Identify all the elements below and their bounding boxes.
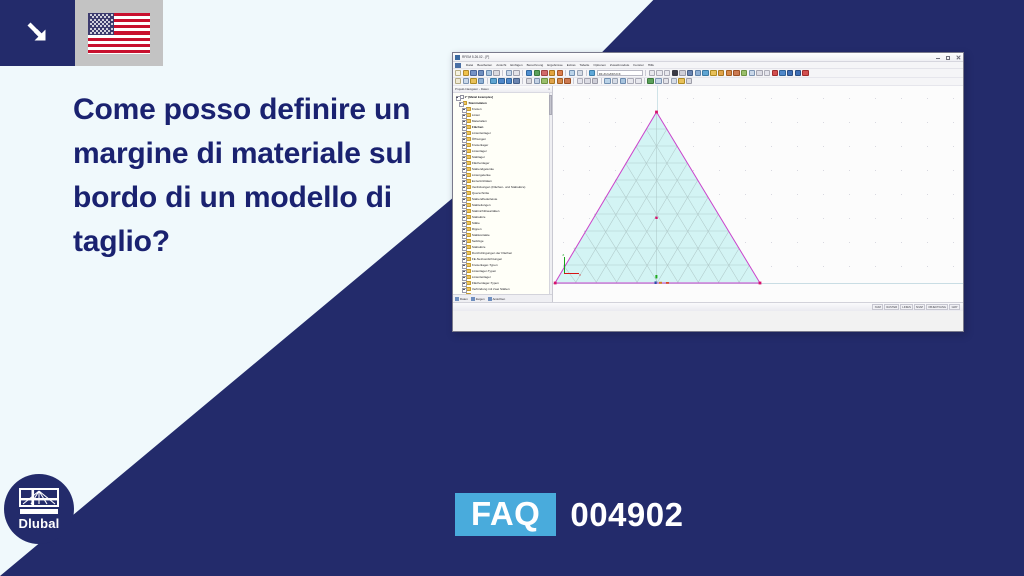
show-tab-icon xyxy=(471,297,475,301)
tree-item-label: Stammdaten xyxy=(468,101,486,105)
toolbar-separator xyxy=(601,78,602,84)
flag-star xyxy=(108,30,110,32)
save-all-icon[interactable] xyxy=(478,70,484,76)
flag-star xyxy=(108,25,110,27)
tree-item-label: Flächen xyxy=(472,125,484,129)
tree-item-label: Verdickungen (Flächen- und Stabsätze) xyxy=(472,185,526,189)
menu-item-berechnung[interactable]: Berechnung xyxy=(527,63,544,67)
menu-item-zusatzmodule[interactable]: Zusatzmodule xyxy=(610,63,629,67)
tree-expander-icon[interactable] xyxy=(462,167,466,171)
load-case-combo[interactable]: RF-ZUG/DRUCK xyxy=(597,70,643,76)
hinge-icon[interactable] xyxy=(498,78,504,84)
tree-expander-icon[interactable] xyxy=(462,239,466,243)
tree-expander-icon[interactable] xyxy=(462,131,466,135)
color-scale-icon[interactable] xyxy=(671,78,677,84)
tree-item-label: Stabteilungen xyxy=(472,203,491,207)
rfem-application-window[interactable]: RFEM 5.26.02 - [P] Datei Bearbeiten Ansi… xyxy=(452,52,964,332)
tree-item-label: 1* [Metal Examples] xyxy=(465,95,494,99)
view-iso-icon[interactable] xyxy=(741,70,747,76)
tree-item-label: Stabendgelenke xyxy=(472,167,494,171)
menu-item-ansicht[interactable]: Ansicht xyxy=(496,63,506,67)
menu-item-ergebnisse[interactable]: Ergebnisse xyxy=(547,63,562,67)
visibility-icon[interactable] xyxy=(612,78,618,84)
page-title: Come posso definire un margine di materi… xyxy=(73,88,423,264)
pan-icon[interactable] xyxy=(695,70,701,76)
tree-expander-icon[interactable] xyxy=(462,197,466,201)
tree-expander-icon[interactable] xyxy=(462,269,466,273)
layer-icon[interactable] xyxy=(604,78,610,84)
load-icon[interactable] xyxy=(541,78,547,84)
axis-x-line xyxy=(564,273,579,274)
language-flag-box[interactable] xyxy=(75,0,163,66)
calculate-icon[interactable] xyxy=(549,70,555,76)
new-file-icon[interactable] xyxy=(455,70,461,76)
tree-expander-icon[interactable] xyxy=(462,107,466,111)
flag-star xyxy=(90,32,92,34)
copy-icon[interactable] xyxy=(513,70,519,76)
tree-expander-icon[interactable] xyxy=(455,95,459,99)
navigator-tab-daten[interactable]: Daten xyxy=(455,297,468,301)
zoom-fit-icon[interactable] xyxy=(664,70,670,76)
tree-expander-icon[interactable] xyxy=(462,143,466,147)
tree-item-label: Materialien xyxy=(472,119,487,123)
tree-item-label: Stabkontakte xyxy=(472,233,490,237)
support-icon[interactable] xyxy=(490,78,496,84)
tree-item-label: Rippen xyxy=(472,227,482,231)
tree-item-label: Öffnungen xyxy=(472,137,486,141)
node-icon[interactable] xyxy=(455,78,461,84)
print-preview-icon[interactable] xyxy=(493,70,499,76)
flag-star xyxy=(102,32,104,34)
open-file-icon[interactable] xyxy=(463,70,469,76)
flag-star xyxy=(111,19,113,21)
flag-star xyxy=(111,32,113,34)
tree-item-label: Linienlager-Typen xyxy=(472,269,496,273)
navigator-tab-zeigen[interactable]: Zeigen xyxy=(471,297,485,301)
arrow-down-right-badge xyxy=(0,0,75,66)
tree-item-label: Linien xyxy=(472,113,480,117)
navigator-title: Projekt-Navigator - Daten xyxy=(455,87,489,91)
mesh-icon[interactable] xyxy=(779,70,785,76)
navigator-scroll-thumb[interactable] xyxy=(549,95,552,115)
tree-item-label: Geschosse xyxy=(472,293,487,294)
bold-icon[interactable] xyxy=(672,70,678,76)
tree-expander-icon[interactable] xyxy=(462,227,466,231)
deform-icon[interactable] xyxy=(795,70,801,76)
zoom-in-icon[interactable] xyxy=(649,70,655,76)
maximize-button[interactable] xyxy=(945,55,951,61)
window-title: RFEM 5.26.02 - [P] xyxy=(462,55,489,59)
move-icon[interactable] xyxy=(577,78,583,84)
clear-icon[interactable] xyxy=(772,70,778,76)
group-icon[interactable] xyxy=(635,78,641,84)
tree-expander-icon[interactable] xyxy=(462,209,466,213)
surface-icon[interactable] xyxy=(470,78,476,84)
nodal-load-icon[interactable] xyxy=(549,78,555,84)
tree-item-label: Exzentrizitäten xyxy=(472,179,492,183)
tree-expander-icon[interactable] xyxy=(462,251,466,255)
grid-icon[interactable] xyxy=(577,70,583,76)
delete-icon[interactable] xyxy=(541,70,547,76)
navigator-tab-ansichten[interactable]: Ansichten xyxy=(488,297,506,301)
undo-icon[interactable] xyxy=(526,70,532,76)
axis-display-icon[interactable] xyxy=(647,78,653,84)
section-icon[interactable] xyxy=(620,78,626,84)
tree-item-label: Linienlager xyxy=(472,149,487,153)
flag-star xyxy=(111,14,113,16)
opening-icon[interactable] xyxy=(513,78,519,84)
status-panel[interactable]: SNAP xyxy=(914,304,925,310)
tree-item-label: Seilzüge xyxy=(472,239,484,243)
view-front-icon[interactable] xyxy=(718,70,724,76)
tree-expander-icon[interactable] xyxy=(462,287,466,291)
tree-expander-icon[interactable] xyxy=(462,137,466,141)
views-tab-icon xyxy=(488,297,492,301)
local-axes-icon[interactable] xyxy=(655,78,661,84)
tree-item-label: Liniengelenke xyxy=(472,173,491,177)
status-bar: NUMRASTERLINIENSNAPOBJEKTFANGGRP xyxy=(453,302,963,311)
tree-expander-icon[interactable] xyxy=(462,275,466,279)
tree-item-label: Stabendfederleiste xyxy=(472,197,497,201)
menu-app-logo-icon xyxy=(455,63,461,68)
tree-expander-icon[interactable] xyxy=(462,215,466,219)
tree-expander-icon[interactable] xyxy=(462,245,466,249)
filter-icon[interactable] xyxy=(627,78,633,84)
surface-load-icon[interactable] xyxy=(564,78,570,84)
cut-icon[interactable] xyxy=(506,70,512,76)
axis-x-label: X xyxy=(579,273,581,277)
flag-star xyxy=(98,32,100,34)
dimension-icon[interactable] xyxy=(526,78,532,84)
truss-frame-icon xyxy=(19,488,59,515)
member-icon[interactable] xyxy=(478,78,484,84)
toolbar-separator xyxy=(573,78,574,84)
model-viewport[interactable]: Z X xyxy=(553,86,963,302)
window-titlebar[interactable]: RFEM 5.26.02 - [P] xyxy=(453,53,963,62)
navigator-scrollbar[interactable] xyxy=(549,93,553,294)
work-area: Projekt-Navigator - Daten × 1* [Metal Ex… xyxy=(453,86,963,302)
status-panel[interactable]: NUM xyxy=(872,304,883,310)
thickness-icon[interactable] xyxy=(506,78,512,84)
select-icon[interactable] xyxy=(679,70,685,76)
numbering-icon[interactable] xyxy=(663,78,669,84)
annotate-icon[interactable] xyxy=(534,78,540,84)
flag-star xyxy=(111,28,113,30)
axis-z-label: Z xyxy=(562,253,564,257)
close-button[interactable] xyxy=(955,55,961,61)
wireframe-icon[interactable] xyxy=(749,70,755,76)
highlight-icon[interactable] xyxy=(678,78,684,84)
toolbar-separator xyxy=(522,70,523,76)
tree-item-label: Stablager xyxy=(472,155,485,159)
navigator-close-icon[interactable]: × xyxy=(548,87,550,91)
tree-item-label: Stäbe xyxy=(472,221,480,225)
status-panels[interactable]: NUMRASTERLINIENSNAPOBJEKTFANGGRP xyxy=(872,304,960,310)
tree-expander-icon[interactable] xyxy=(462,221,466,225)
menu-item-fenster[interactable]: Fenster xyxy=(633,63,644,67)
tree-item-label: Flächenlager xyxy=(472,161,490,165)
menu-item-tabelle[interactable]: Tabelle xyxy=(580,63,590,67)
tree-expander-icon[interactable] xyxy=(462,293,466,294)
tree-expander-icon[interactable] xyxy=(462,161,466,165)
faq-badge: FAQ xyxy=(455,493,556,536)
array-icon[interactable] xyxy=(592,78,598,84)
rfem-app-icon xyxy=(455,55,460,60)
status-panel[interactable]: OBJEKTFANG xyxy=(926,304,948,310)
view-top-icon[interactable] xyxy=(726,70,732,76)
print-icon[interactable] xyxy=(486,70,492,76)
status-panel[interactable]: LINIEN xyxy=(900,304,913,310)
minimize-button[interactable] xyxy=(935,55,941,61)
flag-star xyxy=(106,32,108,34)
tree-item-label: Knotenlager xyxy=(472,143,488,147)
menu-bar[interactable]: Datei Bearbeiten Ansicht Einfügen Berech… xyxy=(453,62,963,69)
toolbar-separator xyxy=(487,78,488,84)
coordinate-axis-indicator: Z X xyxy=(561,254,579,276)
info-icon[interactable] xyxy=(589,70,595,76)
flag-canton xyxy=(88,13,114,35)
tree-item-label: Stabnichtlinearitäten xyxy=(472,209,500,213)
flag-star xyxy=(108,21,110,23)
tree-item-label: Knoten xyxy=(472,107,482,111)
toolbar-separator xyxy=(644,78,645,84)
tree-item-label: Linienlenlager xyxy=(472,131,491,135)
flag-star xyxy=(111,23,113,25)
menu-item-optionen[interactable]: Optionen xyxy=(593,63,606,67)
toolbar-primary[interactable]: RF-ZUG/DRUCK xyxy=(453,69,963,78)
settings-icon[interactable] xyxy=(686,78,692,84)
arrow-down-right-icon xyxy=(23,18,53,48)
logo-wordmark: Dlubal xyxy=(19,516,60,531)
guides-icon[interactable] xyxy=(764,70,770,76)
faq-number: 004902 xyxy=(570,496,683,534)
status-panel[interactable]: RASTER xyxy=(884,304,899,310)
tree-expander-icon[interactable] xyxy=(462,119,466,123)
tree-item-label: Stabsätze xyxy=(472,215,486,219)
tree-item-label: FE-Netzverdichtungen xyxy=(472,257,502,261)
flag-star xyxy=(92,16,94,18)
render-icon[interactable] xyxy=(702,70,708,76)
tree-item-label: Stabsätze xyxy=(472,245,486,249)
status-panel[interactable]: GRP xyxy=(949,304,960,310)
tree-item-label: Knotenlager-Typen xyxy=(472,263,498,267)
toolbar-separator xyxy=(645,70,646,76)
tree-expander-icon[interactable] xyxy=(458,101,462,105)
tree-expander-icon[interactable] xyxy=(462,263,466,267)
tree-expander-icon[interactable] xyxy=(462,113,466,117)
toolbar-separator xyxy=(502,70,503,76)
line-icon[interactable] xyxy=(463,78,469,84)
dlubal-logo[interactable]: Dlubal xyxy=(4,474,74,544)
faq-footer: FAQ 004902 xyxy=(455,493,683,536)
flag-star xyxy=(108,16,110,18)
table-icon[interactable] xyxy=(569,70,575,76)
toolbar-secondary[interactable] xyxy=(453,78,963,87)
tree-expander-icon[interactable] xyxy=(462,125,466,129)
line-load-icon[interactable] xyxy=(557,78,563,84)
menu-item-hilfe[interactable]: Hilfe xyxy=(648,63,654,67)
window-controls[interactable] xyxy=(935,55,961,61)
tree-item[interactable]: Geschosse xyxy=(454,292,552,294)
navigator-header: Projekt-Navigator - Daten × xyxy=(453,86,552,93)
mirror-icon[interactable] xyxy=(584,78,590,84)
fe-mesh-icon[interactable] xyxy=(787,70,793,76)
tree-item-label: Verbindung mit zwei Stäben xyxy=(472,287,510,291)
view-side-icon[interactable] xyxy=(733,70,739,76)
tree-expander-icon[interactable] xyxy=(462,155,466,159)
toolbar-separator xyxy=(522,78,523,84)
tree-expander-icon[interactable] xyxy=(462,191,466,195)
flag-star xyxy=(94,32,96,34)
flag-usa-icon xyxy=(88,13,150,54)
rotate-icon[interactable] xyxy=(687,70,693,76)
redo-icon[interactable] xyxy=(534,70,540,76)
lighting-icon[interactable] xyxy=(710,70,716,76)
tree-item-label: Durchdringungen der Flächen xyxy=(472,251,512,255)
toolbar-separator xyxy=(565,70,566,76)
project-navigator[interactable]: Projekt-Navigator - Daten × 1* [Metal Ex… xyxy=(453,86,553,302)
tree-item-label: Linienlenlager xyxy=(472,275,491,279)
menu-item-bearbeiten[interactable]: Bearbeiten xyxy=(477,63,492,67)
tree-expander-icon[interactable] xyxy=(462,257,466,261)
toolbar-separator xyxy=(586,70,587,76)
tree-expander-icon[interactable] xyxy=(462,281,466,285)
stress-icon[interactable] xyxy=(802,70,808,76)
cutting-pattern-triangle[interactable] xyxy=(553,86,963,302)
tree-expander-icon[interactable] xyxy=(462,233,466,237)
tree-expander-icon[interactable] xyxy=(462,149,466,153)
tree-item-label: Querschnitte xyxy=(472,191,489,195)
tree-expander-icon[interactable] xyxy=(462,185,466,189)
data-tab-icon xyxy=(455,297,459,301)
menu-item-einfuegen[interactable]: Einfügen xyxy=(510,63,522,67)
menu-item-extras[interactable]: Extras xyxy=(567,63,576,67)
snap-icon[interactable] xyxy=(756,70,762,76)
tree-expander-icon[interactable] xyxy=(462,203,466,207)
results-icon[interactable] xyxy=(557,70,563,76)
flag-star xyxy=(92,25,94,27)
save-icon[interactable] xyxy=(470,70,476,76)
navigator-tabs[interactable]: Daten Zeigen Ansichten xyxy=(453,294,552,302)
zoom-out-icon[interactable] xyxy=(656,70,662,76)
tree-expander-icon[interactable] xyxy=(462,173,466,177)
axis-z-line xyxy=(564,257,565,274)
menu-item-datei[interactable]: Datei xyxy=(466,63,473,67)
tree-expander-icon[interactable] xyxy=(462,179,466,183)
navigator-tree[interactable]: 1* [Metal Examples]StammdatenKnotenLinie… xyxy=(453,93,552,294)
tree-item-label: Flächenlager-Typen xyxy=(472,281,499,285)
